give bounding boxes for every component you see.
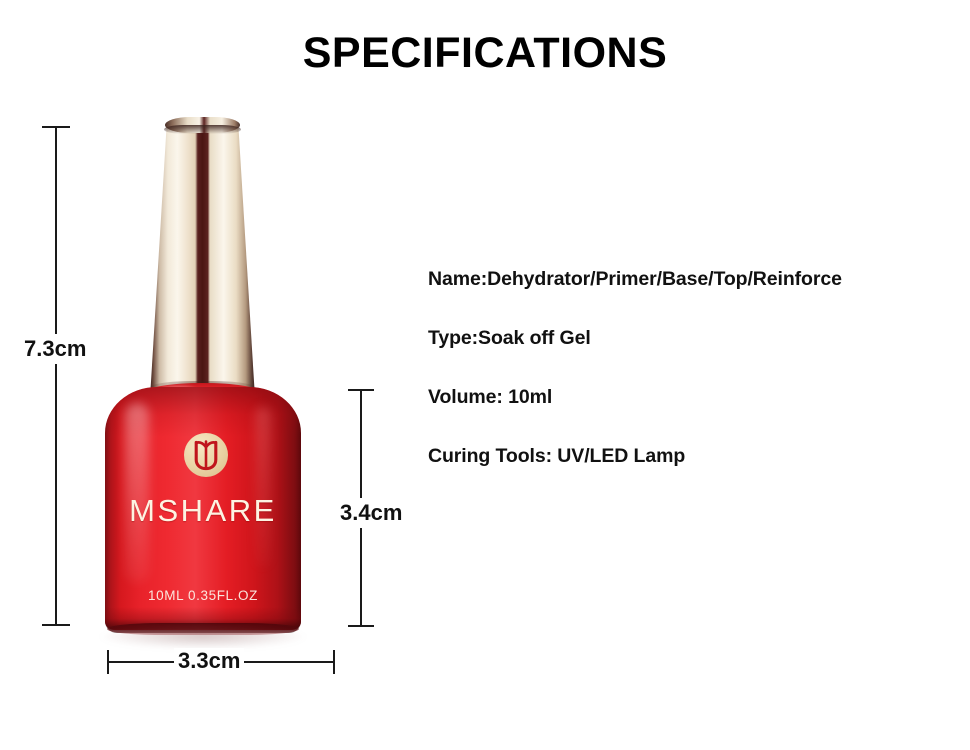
brand-name: MSHARE [105, 493, 301, 529]
bottle-cap [150, 123, 255, 398]
spec-item-volume: Volume: 10ml [428, 386, 938, 409]
page-title: SPECIFICATIONS [0, 32, 970, 75]
body-height-dimension-label: 3.4cm [338, 498, 404, 528]
bottle-drop-shadow [99, 627, 307, 649]
height-dimension-label: 7.3cm [22, 334, 88, 364]
body-height-dimension-cap-top [348, 389, 374, 391]
bottle-highlight-right [255, 407, 271, 567]
bottle-cap-rim [164, 125, 241, 134]
mshare-monogram-icon [184, 433, 228, 477]
specification-list: Name:Dehydrator/Primer/Base/Top/Reinforc… [428, 268, 938, 468]
specifications-page: SPECIFICATIONS MSHARE 10ML 0.35FL.OZ 7.3… [0, 0, 970, 750]
spec-item-curing-tools: Curing Tools: UV/LED Lamp [428, 445, 938, 468]
spec-item-type: Type:Soak off Gel [428, 327, 938, 350]
product-bottle-illustration: MSHARE 10ML 0.35FL.OZ [95, 115, 355, 645]
height-dimension-cap-bottom [42, 624, 70, 626]
body-height-dimension-cap-bottom [348, 625, 374, 627]
height-dimension-line [55, 127, 57, 625]
width-dimension-cap-right [333, 650, 335, 674]
width-dimension-cap-left [107, 650, 109, 674]
spec-item-name: Name:Dehydrator/Primer/Base/Top/Reinforc… [428, 268, 938, 291]
height-dimension-cap-top [42, 126, 70, 128]
bottle-volume-marking: 10ML 0.35FL.OZ [105, 588, 301, 603]
width-dimension-label: 3.3cm [174, 648, 244, 674]
